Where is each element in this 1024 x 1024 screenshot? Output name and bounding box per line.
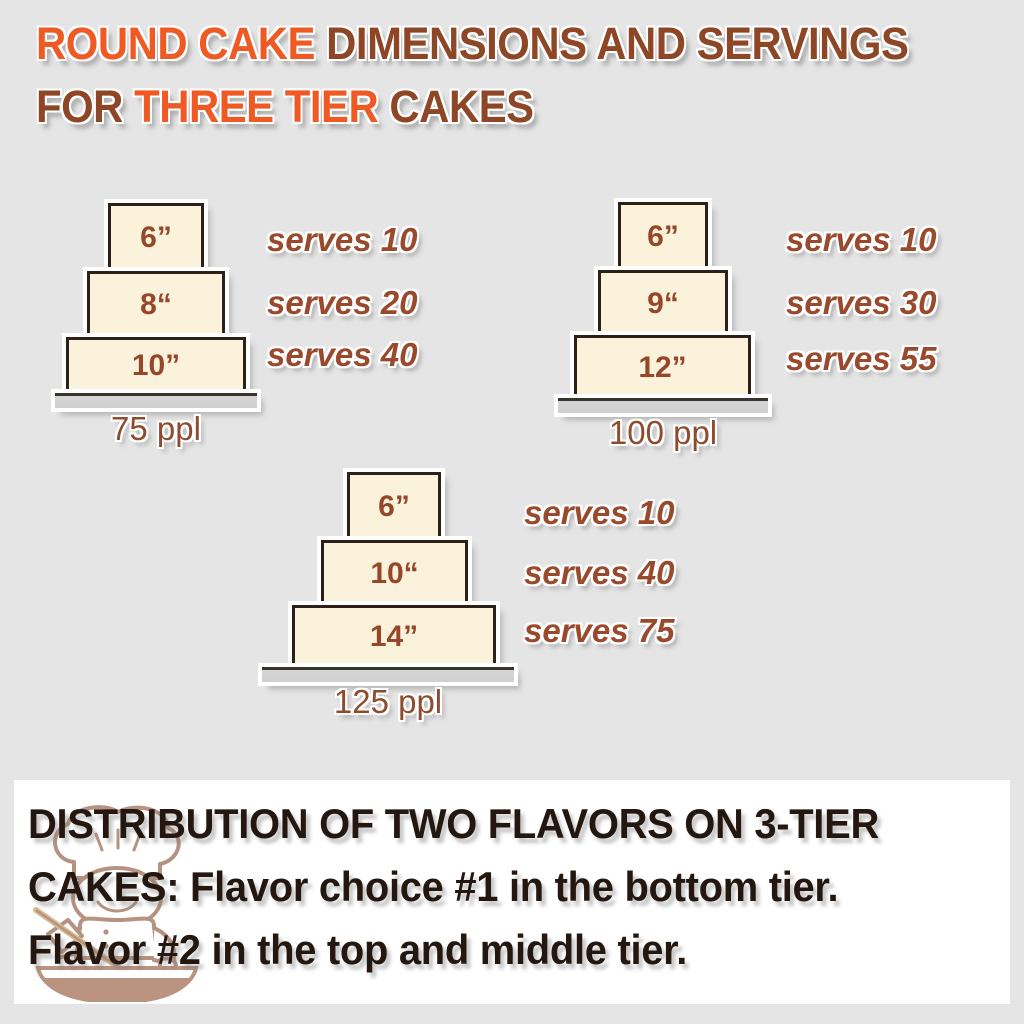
- cake-serves-bottom: serves 75: [524, 612, 674, 650]
- cake-tier-middle: 10“: [321, 540, 468, 605]
- cake-tier-label: 14”: [370, 620, 418, 654]
- cake-diagram-125ppl: 6” 10“ 14” 125 ppl serves 10 serves 40 s…: [0, 0, 1024, 740]
- cake-total-servings-label: 125 ppl: [262, 683, 514, 721]
- flavor-distribution-text: DISTRIBUTION OF TWO FLAVORS ON 3-TIER CA…: [28, 792, 1003, 981]
- panel-line-1: DISTRIBUTION OF TWO FLAVORS ON 3-TIER: [28, 792, 954, 855]
- cake-tier-label: 6”: [378, 490, 410, 524]
- panel-line-2: CAKES: Flavor choice #1 in the bottom ti…: [28, 855, 954, 918]
- panel-line-3: Flavor #2 in the top and middle tier.: [28, 918, 954, 981]
- cake-plate: [262, 667, 514, 682]
- cake-tier-top: 6”: [347, 472, 441, 540]
- cake-tier-label: 10“: [370, 557, 418, 591]
- flavor-distribution-panel: DISTRIBUTION OF TWO FLAVORS ON 3-TIER CA…: [14, 780, 1010, 1004]
- cake-serves-middle: serves 40: [524, 554, 674, 592]
- cake-tier-bottom: 14”: [292, 605, 496, 667]
- cake-serves-top: serves 10: [524, 494, 674, 532]
